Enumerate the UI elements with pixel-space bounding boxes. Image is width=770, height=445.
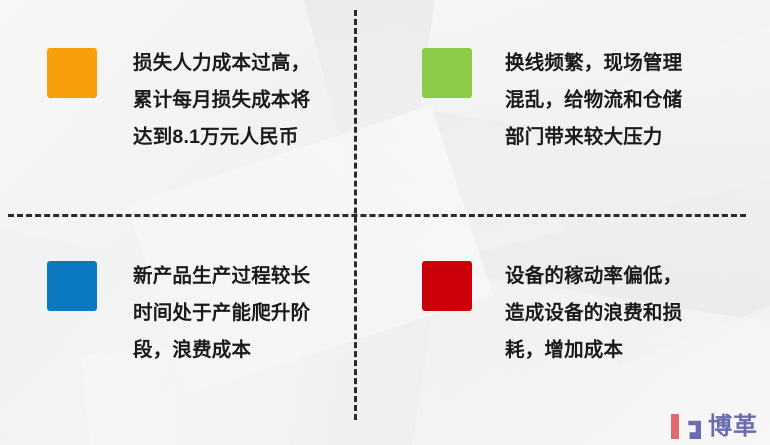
- quadrant-top-right-text: 换线频繁，现场管理 混乱，给物流和仓储 部门带来较大压力: [505, 45, 682, 156]
- logo-g-shape: [682, 414, 701, 439]
- logo-bar-shape: [671, 414, 679, 439]
- brand-logo-icon: [671, 414, 701, 439]
- quadrant-bottom-left-text: 新产品生产过程较长 时间处于产能爬升阶 段，浪费成本: [133, 258, 310, 369]
- slide-canvas: 损失人力成本过高， 累计每月损失成本将 达到8.1万元人民币 换线频繁，现场管理…: [0, 0, 770, 445]
- red-swatch: [422, 261, 472, 311]
- quadrant-bottom-left: 新产品生产过程较长 时间处于产能爬升阶 段，浪费成本: [47, 258, 347, 369]
- orange-swatch: [47, 48, 97, 98]
- blue-swatch: [47, 261, 97, 311]
- quadrant-top-left: 损失人力成本过高， 累计每月损失成本将 达到8.1万元人民币: [47, 45, 347, 156]
- brand-logo-text: 博革: [708, 414, 758, 439]
- brand-logo: 博革: [671, 414, 758, 439]
- quadrant-top-right: 换线频繁，现场管理 混乱，给物流和仓储 部门带来较大压力: [422, 45, 727, 156]
- quadrant-bottom-right: 设备的稼动率偏低， 造成设备的浪费和损 耗，增加成本: [422, 258, 727, 369]
- green-swatch: [422, 48, 472, 98]
- quadrant-top-left-text: 损失人力成本过高， 累计每月损失成本将 达到8.1万元人民币: [133, 45, 310, 156]
- quadrant-bottom-right-text: 设备的稼动率偏低， 造成设备的浪费和损 耗，增加成本: [505, 258, 682, 369]
- horizontal-dashed-divider: [8, 214, 746, 217]
- vertical-dashed-divider: [354, 10, 357, 420]
